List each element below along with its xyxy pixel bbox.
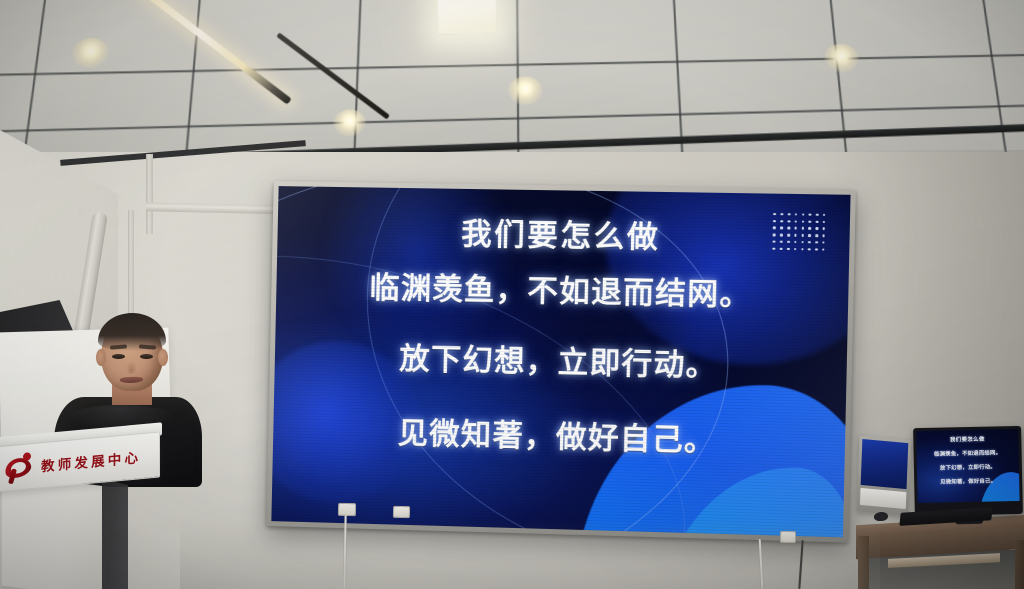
control-panel-screen xyxy=(861,439,909,489)
slide-line-3: 见微知著，做好自己。 xyxy=(397,419,716,457)
podium-side-shadow xyxy=(102,479,128,589)
slide-text-block: 我们要怎么做 临渊羡鱼，不如退而结网。 放下幻想，立即行动。 见微知著，做好自己… xyxy=(271,186,850,537)
desk-leg-right xyxy=(1015,540,1024,589)
pipe-elbow-icon xyxy=(78,200,108,226)
podium: 教师发展中心 xyxy=(0,430,172,589)
preview-slide-title: 我们要怎么做 xyxy=(950,435,985,444)
slide-line-1: 临渊羡鱼，不如退而结网。 xyxy=(369,274,752,312)
preview-slide-line-1: 临渊羡鱼，不如退而结网。 xyxy=(934,448,1001,457)
preview-monitor[interactable]: 我们要怎么做 临渊羡鱼，不如退而结网。 放下幻想，立即行动。 见微知著，做好自己… xyxy=(913,426,1023,516)
presenter-nose xyxy=(126,361,137,374)
lecture-room-photo: 我们要怎么做 临渊羡鱼，不如退而结网。 放下幻想，立即行动。 见微知著，做好自己… xyxy=(0,0,1024,589)
slide-line-2: 放下幻想，立即行动。 xyxy=(399,345,718,382)
vertical-conduit xyxy=(146,154,153,234)
presenter-ear-left xyxy=(96,349,106,366)
presenter-ear-right xyxy=(158,349,168,366)
led-display-screen[interactable]: 我们要怎么做 临渊羡鱼，不如退而结网。 放下幻想，立即行动。 见微知著，做好自己… xyxy=(266,181,856,543)
presentation-slide: 我们要怎么做 临渊羡鱼，不如退而结网。 放下幻想，立即行动。 见微知著，做好自己… xyxy=(271,186,850,537)
podium-left-edge xyxy=(0,478,2,589)
preview-monitor-screen: 我们要怎么做 临渊羡鱼，不如退而结网。 放下幻想，立即行动。 见微知著，做好自己… xyxy=(916,429,1019,503)
panel-light-icon xyxy=(438,0,497,34)
preview-slide-line-3: 见微知著，做好自己。 xyxy=(940,476,996,485)
slide-title: 我们要怎么做 xyxy=(461,220,661,254)
downlight-icon xyxy=(508,76,543,105)
podium-body xyxy=(0,474,111,589)
floor-shading xyxy=(180,519,880,589)
preview-slide-line-2: 放下幻想，立即行动。 xyxy=(940,462,996,471)
wall-outlet[interactable] xyxy=(393,506,410,518)
control-panel-buttons[interactable] xyxy=(860,488,907,509)
teacher-center-logo-icon xyxy=(3,451,33,484)
presenter-eye-right xyxy=(140,354,153,359)
presenter-eye-left xyxy=(112,354,125,359)
control-panel-display[interactable] xyxy=(857,436,912,517)
wall-outlet[interactable] xyxy=(338,503,356,516)
podium-label: 教师发展中心 xyxy=(41,446,141,475)
presenter-hair xyxy=(98,313,166,351)
control-desk-area: 我们要怎么做 临渊羡鱼，不如退而结网。 放下幻想，立即行动。 见微知著，做好自己… xyxy=(860,424,1024,589)
